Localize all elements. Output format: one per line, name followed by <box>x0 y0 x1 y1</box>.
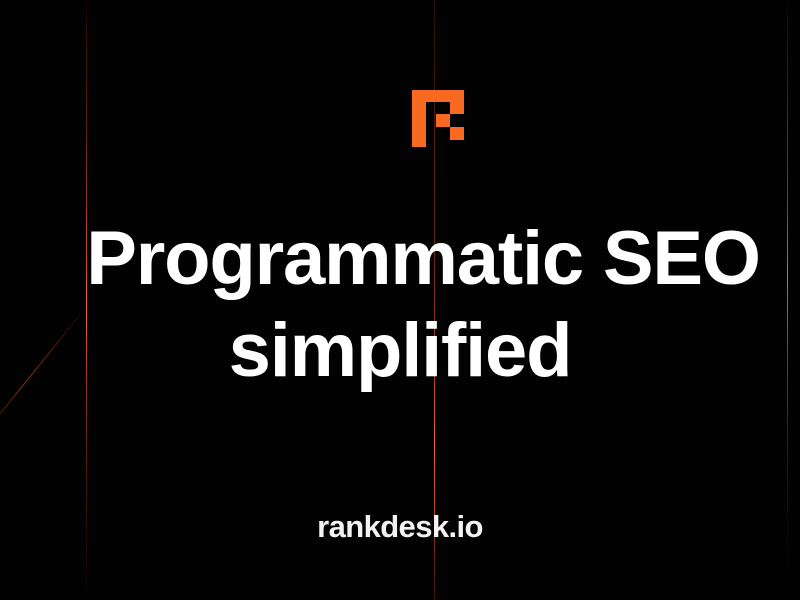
page-title-line-2: simplified <box>0 305 800 397</box>
page-title: Programmatic SEO simplified <box>0 213 800 397</box>
brand-wordmark: rankdesk.io <box>0 509 800 545</box>
page-title-line-1: Programmatic SEO <box>46 213 800 305</box>
rankdesk-r-logomark-icon <box>412 90 464 147</box>
hero-banner: Programmatic SEO simplified rankdesk.io <box>0 0 800 600</box>
